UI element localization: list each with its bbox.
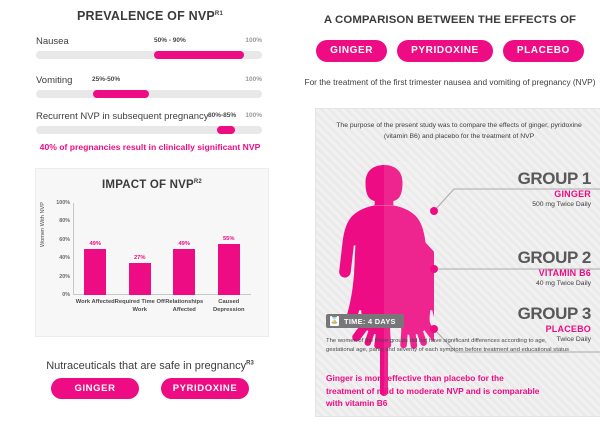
- nutraceuticals-pill-group: GINGERPYRIDOXINE: [0, 378, 300, 399]
- comparison-title: A COMPARISON BETWEEN THE EFFECTS OF: [300, 14, 600, 26]
- bar-track: [36, 126, 262, 134]
- impact-title-ref: R2: [194, 179, 202, 185]
- nutraceuticals-text: Nutraceuticals that are safe in pregnanc…: [0, 360, 300, 372]
- group-title: GROUP 2: [461, 249, 591, 266]
- bar-fill: [93, 90, 150, 98]
- chart-bar-value-label: 49%: [164, 241, 204, 247]
- bar-track: [36, 51, 262, 59]
- bar-range-value: 80%-85%: [208, 112, 236, 119]
- bar-label: Nausea: [36, 36, 69, 47]
- y-tick-label: 20%: [59, 274, 70, 280]
- bar-label: Recurrent NVP in subsequent pregnancy: [36, 111, 209, 122]
- connector-dot-group1: [430, 207, 438, 215]
- time-badge: ⌛ TIME: 4 DAYS: [326, 314, 404, 328]
- study-panel: The purpose of the present study was to …: [315, 108, 600, 417]
- y-axis-line: [73, 203, 74, 295]
- prevalence-title-ref: R1: [215, 11, 223, 17]
- impact-plot-area: 0%20%40%60%80%100%49%Work Affected27%Req…: [73, 203, 251, 295]
- group-drug: PLACEBO: [461, 324, 591, 334]
- prevalence-title: PREVALENCE OF NVPR1: [0, 9, 300, 23]
- bar-fill: [154, 51, 244, 59]
- chart-category-label: Caused Depression: [203, 299, 255, 315]
- y-tick-label: 80%: [59, 218, 70, 224]
- group-dose: 500 mg Twice Daily: [461, 201, 591, 208]
- y-axis-title: Women With NVP: [40, 202, 46, 247]
- nutraceuticals-label: Nutraceuticals that are safe in pregnanc…: [46, 360, 246, 372]
- study-note-text: The women of the three groups did not ha…: [326, 337, 576, 355]
- bar-max-value: 100%: [245, 37, 262, 44]
- pill-pyridoxine[interactable]: PYRIDOXINE: [161, 378, 249, 399]
- group-2-block: GROUP 2 VITAMIN B6 40 mg Twice Daily: [461, 249, 591, 287]
- comparison-pill-group: GINGERPYRIDOXINEPLACEBO: [300, 40, 600, 62]
- left-panel: PREVALENCE OF NVPR1 Nausea 50% - 90% 100…: [0, 0, 300, 425]
- y-tick-label: 40%: [59, 255, 70, 261]
- chart-bar: [84, 249, 106, 295]
- prevalence-bar-recurrent: Recurrent NVP in subsequent pregnancy 80…: [36, 111, 262, 139]
- chart-bar-value-label: 49%: [75, 241, 115, 247]
- prevalence-stat-line: 40% of pregnancies result in clinically …: [0, 142, 300, 152]
- bar-range-value: 25%-50%: [92, 76, 120, 83]
- pill-pyridoxine[interactable]: PYRIDOXINE: [397, 40, 493, 62]
- chart-bar-value-label: 27%: [120, 255, 160, 261]
- chart-bar: [173, 249, 195, 295]
- infographic-page: PREVALENCE OF NVPR1 Nausea 50% - 90% 100…: [0, 0, 600, 425]
- y-tick-label: 60%: [59, 237, 70, 243]
- bar-fill: [217, 126, 235, 134]
- study-conclusion-text: Ginger is more effective than placebo fo…: [326, 372, 541, 410]
- chart-bar: [218, 244, 240, 295]
- comparison-subtitle: For the treatment of the first trimester…: [300, 76, 600, 88]
- group-drug: VITAMIN B6: [461, 268, 591, 278]
- bar-range-value: 50% - 90%: [154, 37, 186, 44]
- prevalence-bar-vomiting: Vomiting 25%-50% 100%: [36, 75, 262, 103]
- impact-title-text: IMPACT OF NVP: [102, 179, 194, 191]
- pill-placebo[interactable]: PLACEBO: [503, 40, 584, 62]
- group-drug: GINGER: [461, 189, 591, 199]
- time-badge-label: TIME: 4 DAYS: [344, 317, 396, 326]
- bar-label: Vomiting: [36, 75, 72, 86]
- hourglass-icon: ⌛: [330, 316, 339, 326]
- impact-chart-title: IMPACT OF NVPR2: [36, 179, 268, 191]
- nutraceuticals-ref: R3: [246, 360, 254, 366]
- chart-bar-value-label: 55%: [209, 236, 249, 242]
- prevalence-bar-nausea: Nausea 50% - 90% 100%: [36, 36, 262, 64]
- impact-chart-card: IMPACT OF NVPR2 Women With NVP 0%20%40%6…: [35, 168, 269, 337]
- right-panel: A COMPARISON BETWEEN THE EFFECTS OF GING…: [300, 0, 600, 425]
- y-tick-label: 0%: [62, 292, 70, 298]
- bar-max-value: 100%: [245, 112, 262, 119]
- prevalence-title-text: PREVALENCE OF NVP: [77, 9, 215, 23]
- y-tick-label: 100%: [56, 200, 70, 206]
- group-title: GROUP 1: [461, 170, 591, 187]
- connector-dot-group2: [430, 265, 438, 273]
- chart-bar: [129, 263, 151, 295]
- pill-ginger[interactable]: GINGER: [51, 378, 139, 399]
- bar-max-value: 100%: [245, 76, 262, 83]
- group-dose: 40 mg Twice Daily: [461, 280, 591, 287]
- pill-ginger[interactable]: GINGER: [316, 40, 387, 62]
- group-1-block: GROUP 1 GINGER 500 mg Twice Daily: [461, 170, 591, 208]
- group-title: GROUP 3: [461, 305, 591, 322]
- connector-dot-group3: [430, 325, 438, 333]
- bar-track: [36, 90, 262, 98]
